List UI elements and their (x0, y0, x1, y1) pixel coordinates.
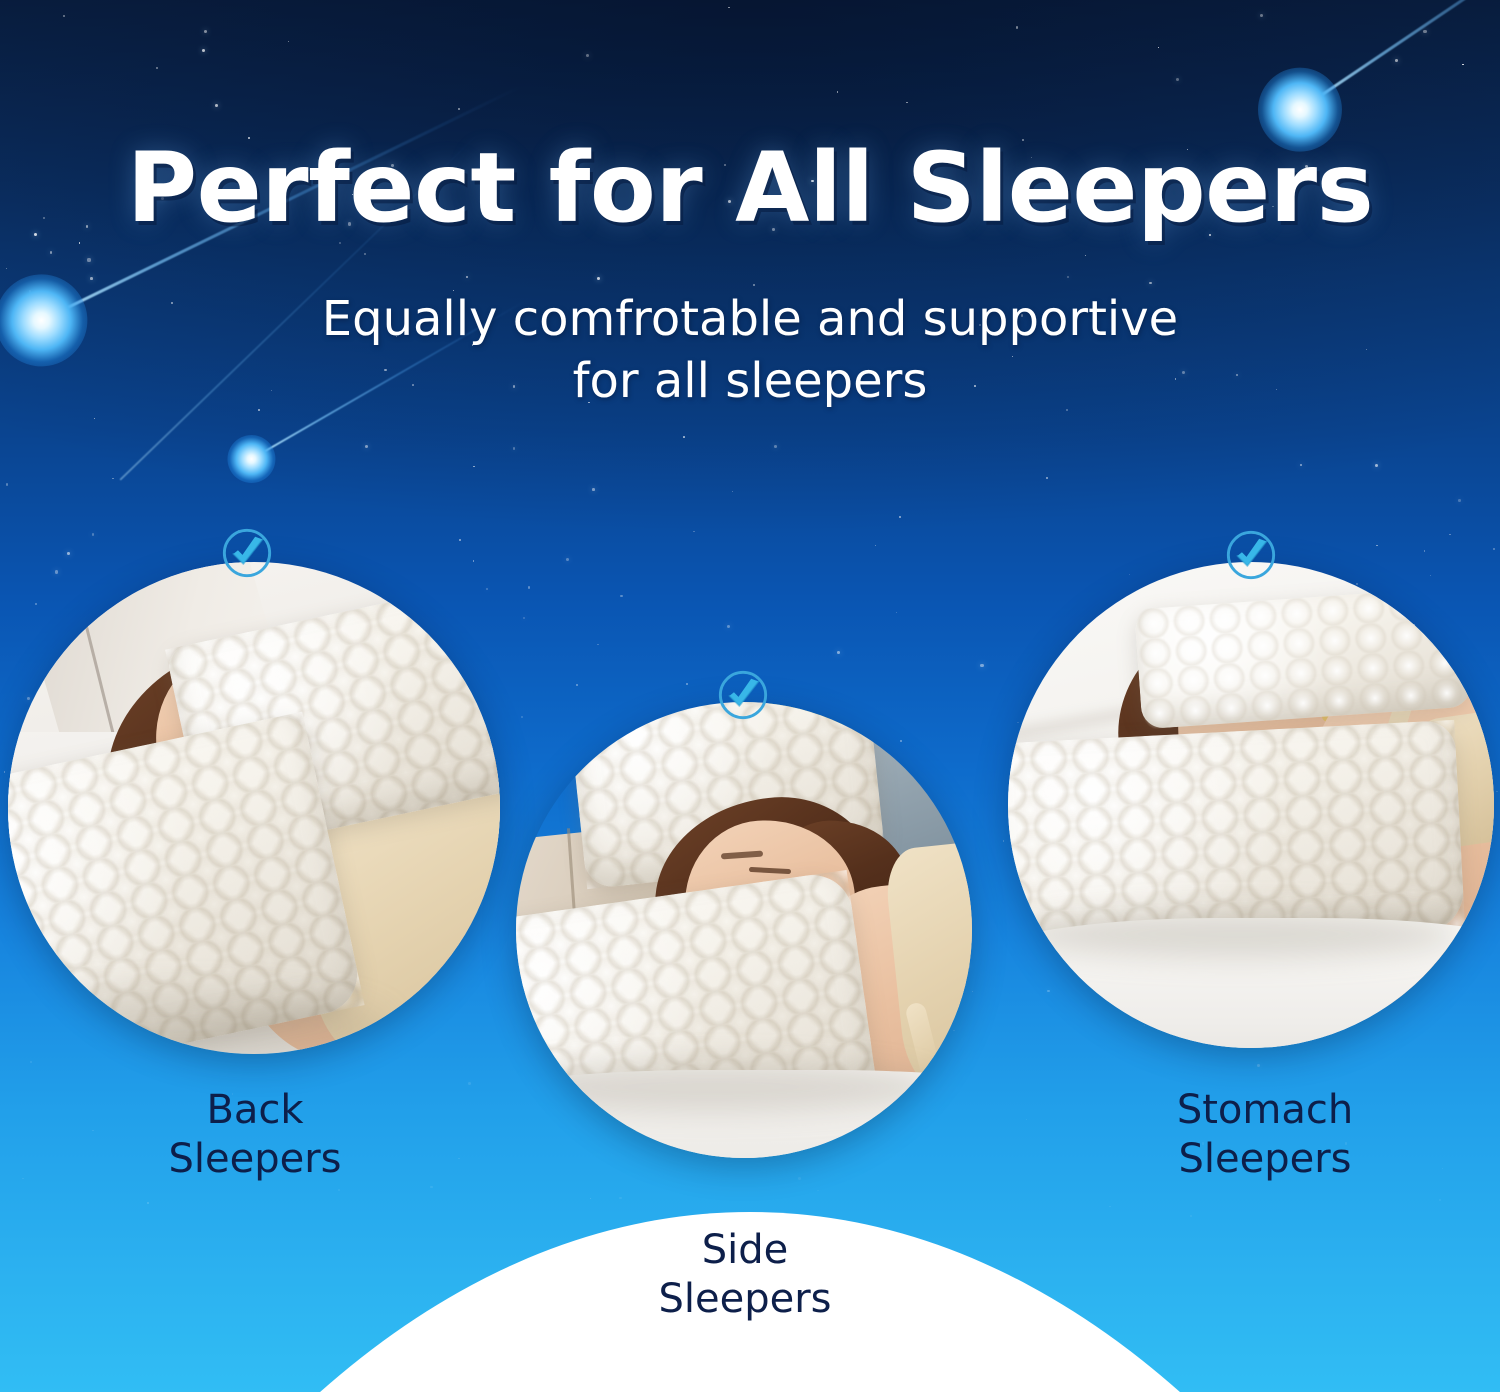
photo-circle-back-sleepers (8, 562, 500, 1054)
check-circle-icon-back (218, 524, 276, 582)
subtitle-line-2: for all sleepers (0, 350, 1500, 412)
sleeper-label-back: Back Sleepers (60, 1086, 450, 1184)
label-line-1: Side (570, 1226, 920, 1275)
label-line-2: Sleepers (570, 1275, 920, 1324)
photo-stomach-sleeper (1008, 562, 1494, 1048)
photo-side-sleeper (516, 702, 972, 1158)
page-subtitle: Equally comfrotable and supportive for a… (0, 288, 1500, 413)
check-circle-icon-stomach (1222, 526, 1280, 584)
photo-circle-stomach-sleepers (1008, 562, 1494, 1048)
subtitle-line-1: Equally comfrotable and supportive (0, 288, 1500, 350)
label-line-1: Stomach (1080, 1086, 1450, 1135)
pillow-texture (1134, 587, 1472, 730)
page-title: Perfect for All Sleepers (0, 140, 1500, 238)
check-circle-icon-side (714, 666, 772, 724)
marketing-banner: Perfect for All Sleepers Equally comfrot… (0, 0, 1500, 1392)
sleeper-label-stomach: Stomach Sleepers (1080, 1086, 1450, 1184)
pillow-upper (1134, 587, 1472, 730)
label-line-2: Sleepers (60, 1135, 450, 1184)
sleeper-label-side: Side Sleepers (570, 1226, 920, 1324)
duvet-shadow (1018, 910, 1458, 958)
photo-circle-side-sleepers (516, 702, 972, 1158)
label-line-1: Back (60, 1086, 450, 1135)
photo-back-sleeper (8, 562, 500, 1054)
label-line-2: Sleepers (1080, 1135, 1450, 1184)
